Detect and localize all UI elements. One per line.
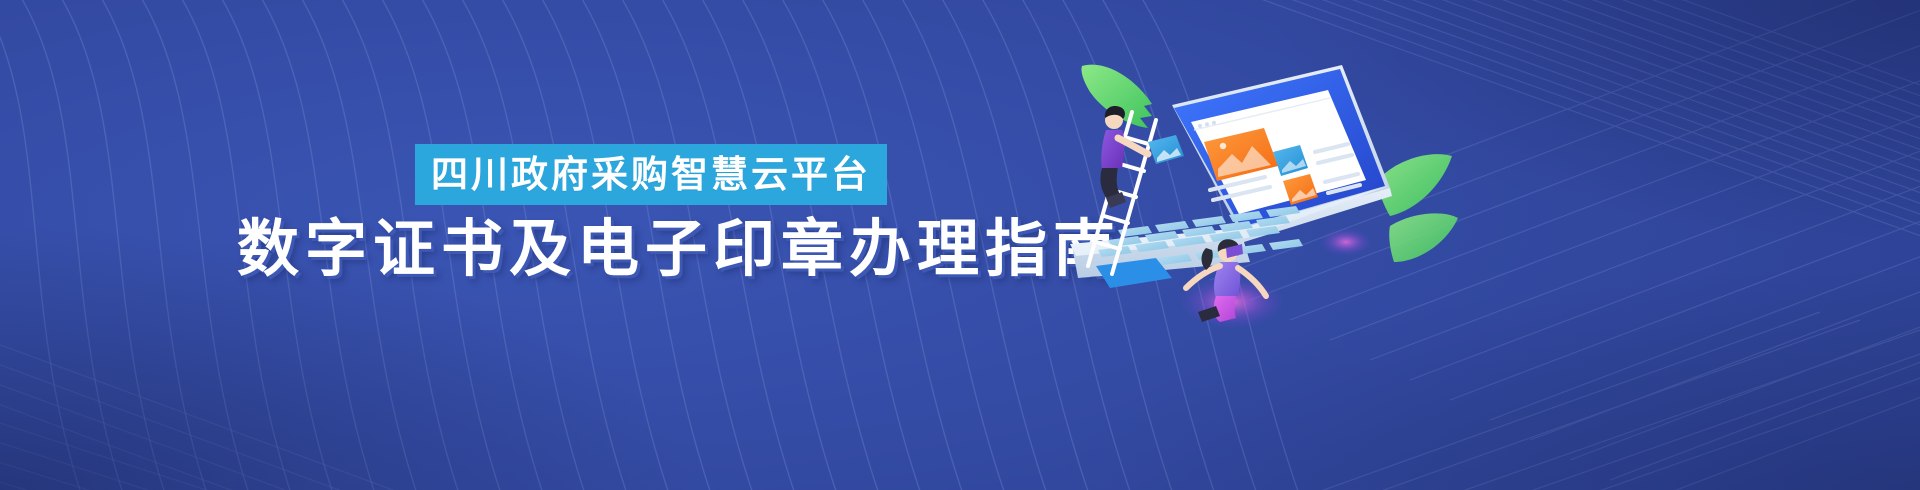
platform-badge: 四川政府采购智慧云平台 bbox=[415, 144, 887, 205]
platform-badge-label: 四川政府采购智慧云平台 bbox=[431, 156, 871, 193]
person-vr-pants bbox=[1214, 296, 1236, 322]
banner-title: 数字证书及电子印章办理指南 bbox=[237, 213, 1121, 284]
hero-illustration bbox=[1060, 30, 1460, 320]
leaf-right-icon bbox=[1378, 154, 1458, 262]
banner-text-block: 四川政府采购智慧云平台 数字证书及电子印章办理指南 bbox=[0, 0, 1130, 490]
floating-tile-icon bbox=[1148, 135, 1184, 164]
laptop-screen bbox=[1172, 65, 1390, 232]
screen-flare bbox=[1320, 228, 1372, 256]
page-banner: 四川政府采购智慧云平台 数字证书及电子印章办理指南 bbox=[0, 0, 1920, 490]
